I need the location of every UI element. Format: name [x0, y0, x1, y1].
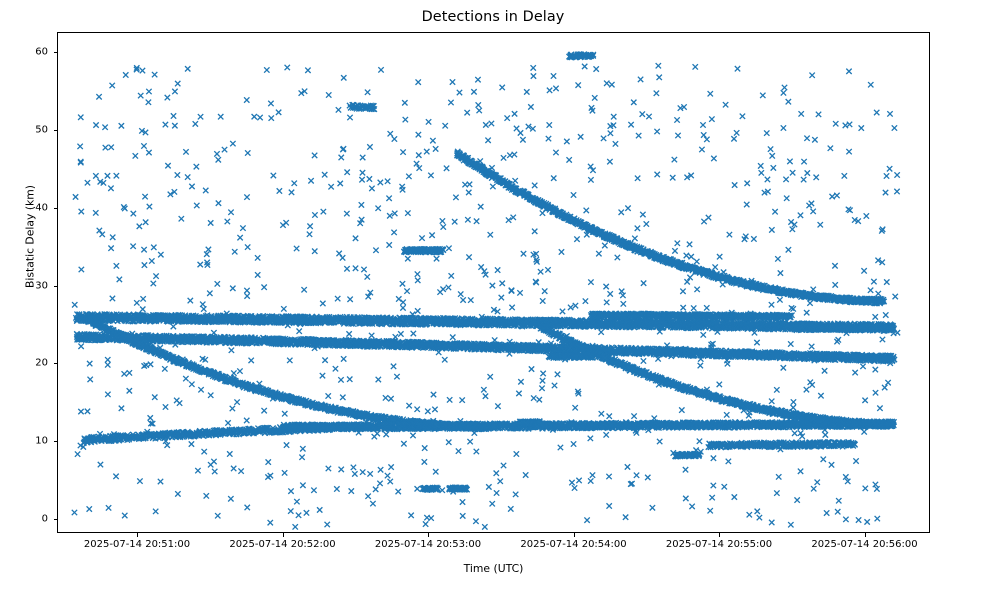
x-tick-mark — [283, 533, 284, 537]
x-tick-mark — [137, 533, 138, 537]
y-tick-label: 0 — [0, 513, 48, 524]
x-tick-label: 2025-07-14 20:51:00 — [84, 539, 190, 550]
x-tick-mark — [428, 533, 429, 537]
y-tick-mark — [54, 52, 58, 53]
x-tick-label: 2025-07-14 20:53:00 — [375, 539, 481, 550]
y-tick-mark — [54, 286, 58, 287]
page-title: Detections in Delay — [0, 9, 986, 25]
y-axis-label: Bistatic Delay (km) — [24, 87, 37, 387]
scatter-plot-canvas — [57, 32, 930, 533]
x-tick-label: 2025-07-14 20:54:00 — [520, 539, 626, 550]
y-tick-mark — [54, 363, 58, 364]
y-tick-mark — [54, 130, 58, 131]
x-tick-mark — [574, 533, 575, 537]
x-tick-mark — [865, 533, 866, 537]
x-axis-label: Time (UTC) — [57, 562, 930, 575]
y-tick-mark — [54, 519, 58, 520]
x-tick-label: 2025-07-14 20:52:00 — [229, 539, 335, 550]
y-tick-label: 60 — [0, 47, 48, 58]
y-tick-label: 10 — [0, 436, 48, 447]
x-tick-label: 2025-07-14 20:55:00 — [666, 539, 772, 550]
y-tick-mark — [54, 208, 58, 209]
x-tick-mark — [719, 533, 720, 537]
figure-canvas: Detections in Delay 2025-07-14 20:51:002… — [0, 0, 986, 590]
x-tick-label: 2025-07-14 20:56:00 — [811, 539, 917, 550]
y-tick-mark — [54, 441, 58, 442]
